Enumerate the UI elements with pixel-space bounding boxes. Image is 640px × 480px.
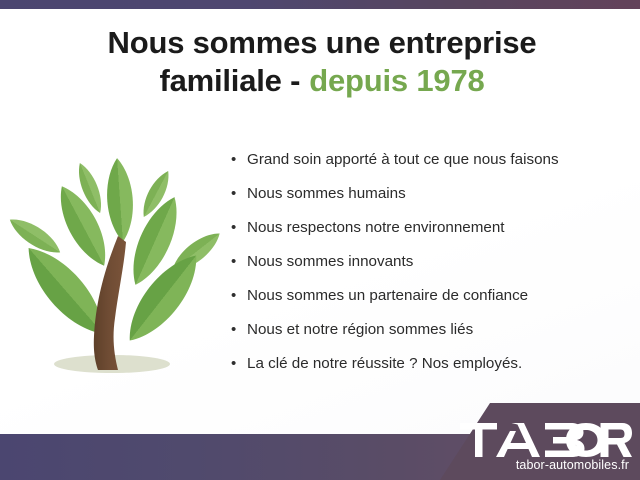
list-item-label: La clé de notre réussite ? Nos employés. [247, 352, 522, 375]
list-item-label: Nous sommes humains [247, 182, 406, 205]
bullet-icon: • [231, 148, 247, 171]
list-item-label: Nous et notre région sommes liés [247, 318, 473, 341]
top-accent-bar [0, 0, 640, 9]
page-title-line-2-accent: depuis 1978 [309, 63, 484, 98]
list-item-label: Nous sommes innovants [247, 250, 413, 273]
bullet-icon: • [231, 216, 247, 239]
brand-logo: tabor-automobiles.fr [460, 423, 632, 472]
tree-icon [8, 158, 224, 394]
tabor-wordmark-icon [460, 423, 632, 457]
tree-logo-illustration [8, 158, 224, 394]
list-item: • La clé de notre réussite ? Nos employé… [231, 352, 631, 386]
page-title-line-1: Nous sommes une entreprise [48, 24, 596, 62]
page-title-line-2-black: familiale - [159, 63, 300, 98]
list-item-label: Nous respectons notre environnement [247, 216, 505, 239]
bullet-icon: • [231, 318, 247, 341]
list-item: • Grand soin apporté à tout ce que nous … [231, 148, 631, 182]
bullet-icon: • [231, 250, 247, 273]
benefits-list: • Grand soin apporté à tout ce que nous … [231, 148, 631, 386]
list-item-label: Grand soin apporté à tout ce que nous fa… [247, 148, 559, 171]
list-item: • Nous sommes innovants [231, 250, 631, 284]
page-title-line-2: familiale -depuis 1978 [48, 62, 596, 100]
page-title: Nous sommes une entreprise familiale -de… [48, 24, 596, 100]
leaf-left-upper [49, 180, 116, 273]
list-item-label: Nous sommes un partenaire de confiance [247, 284, 528, 307]
bullet-icon: • [231, 284, 247, 307]
brand-tagline: tabor-automobiles.fr [460, 458, 632, 472]
leaf-top-center [104, 158, 135, 243]
bullet-icon: • [231, 182, 247, 205]
slide-canvas: Nous sommes une entreprise familiale -de… [0, 0, 640, 480]
list-item: • Nous sommes humains [231, 182, 631, 216]
list-item: • Nous et notre région sommes liés [231, 318, 631, 352]
list-item: • Nous sommes un partenaire de confiance [231, 284, 631, 318]
leaf-lower-right-large [116, 245, 210, 351]
list-item: • Nous respectons notre environnement [231, 216, 631, 250]
bullet-icon: • [231, 352, 247, 375]
